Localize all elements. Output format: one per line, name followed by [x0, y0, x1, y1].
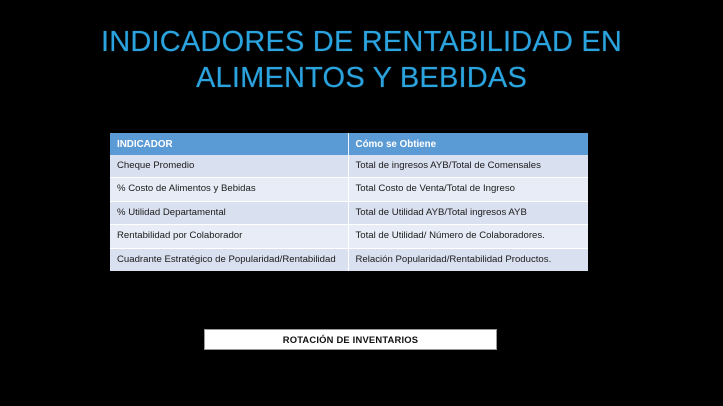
table-row: % Utilidad Departamental Total de Utilid…: [110, 201, 588, 224]
cell-indicador: % Costo de Alimentos y Bebidas: [110, 178, 348, 201]
cell-como-se-obtiene: Total de ingresos AYB/Total de Comensale…: [348, 155, 588, 178]
rotacion-de-inventarios-callout: ROTACIÓN DE INVENTARIOS: [204, 329, 497, 350]
column-header-indicador: INDICADOR: [110, 133, 348, 155]
cell-indicador: Rentabilidad por Colaborador: [110, 225, 348, 248]
cell-como-se-obtiene: Total de Utilidad AYB/Total ingresos AYB: [348, 201, 588, 224]
table-row: Cuadrante Estratégico de Popularidad/Ren…: [110, 248, 588, 271]
slide-canvas: INDICADORES DE RENTABILIDAD EN ALIMENTOS…: [0, 0, 723, 406]
cell-indicador: Cuadrante Estratégico de Popularidad/Ren…: [110, 248, 348, 271]
table-row: Cheque Promedio Total de ingresos AYB/To…: [110, 155, 588, 178]
cell-indicador: % Utilidad Departamental: [110, 201, 348, 224]
table-row: % Costo de Alimentos y Bebidas Total Cos…: [110, 178, 588, 201]
cell-indicador: Cheque Promedio: [110, 155, 348, 178]
table-body: Cheque Promedio Total de ingresos AYB/To…: [110, 155, 588, 271]
cell-como-se-obtiene: Total Costo de Venta/Total de Ingreso: [348, 178, 588, 201]
column-header-como-se-obtiene: Cómo se Obtiene: [348, 133, 588, 155]
table-header: INDICADOR Cómo se Obtiene: [110, 133, 588, 155]
indicators-table: INDICADOR Cómo se Obtiene Cheque Promedi…: [110, 133, 588, 271]
cell-como-se-obtiene: Relación Popularidad/Rentabilidad Produc…: [348, 248, 588, 271]
table-header-row: INDICADOR Cómo se Obtiene: [110, 133, 588, 155]
cell-como-se-obtiene: Total de Utilidad/ Número de Colaborador…: [348, 225, 588, 248]
page-title-line-1: INDICADORES DE RENTABILIDAD EN: [0, 24, 723, 60]
table-row: Rentabilidad por Colaborador Total de Ut…: [110, 225, 588, 248]
page-title-line-2: ALIMENTOS Y BEBIDAS: [0, 60, 723, 96]
indicators-table-container: INDICADOR Cómo se Obtiene Cheque Promedi…: [110, 133, 588, 271]
rotacion-de-inventarios-label: ROTACIÓN DE INVENTARIOS: [283, 334, 419, 345]
page-title: INDICADORES DE RENTABILIDAD EN ALIMENTOS…: [0, 24, 723, 96]
